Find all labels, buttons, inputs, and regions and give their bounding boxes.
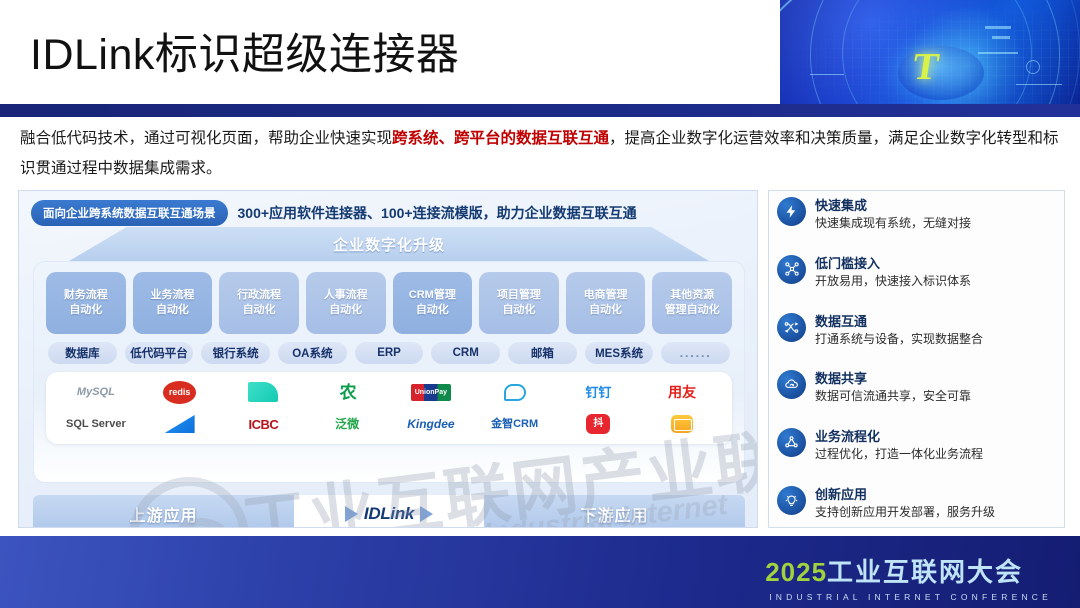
sqlserver-logo: SQL Server [66, 419, 126, 430]
icbc-logo: ICBC [248, 418, 278, 431]
process-box-line1: 电商管理 [584, 288, 628, 303]
feature-desc: 过程优化，打造一体化业务流程 [815, 446, 983, 463]
process-box: CRM管理自动化 [393, 272, 473, 334]
diagram-stack: 企业数字化升级 财务流程自动化 业务流程自动化 行政流程自动化 人事流程自动化 … [27, 227, 751, 483]
digital-upgrade-banner-label: 企业数字化升级 [333, 234, 445, 255]
data-source-chip-more: ...... [661, 342, 730, 364]
process-box-line1: 财务流程 [64, 288, 108, 303]
redis-logo: redis [163, 381, 197, 404]
feature-text: 快速集成 快速集成现有系统，无缝对接 [815, 197, 971, 232]
tech-blip [985, 26, 1011, 29]
upstream-application-block: 上游应用 [33, 495, 294, 528]
feature-text: 数据共享 数据可信流通共享，安全可靠 [815, 370, 971, 405]
process-box-line1: CRM管理 [409, 288, 456, 303]
feature-title: 业务流程化 [815, 429, 983, 445]
process-box: 行政流程自动化 [219, 272, 299, 334]
process-box: 其他资源管理自动化 [652, 272, 732, 334]
weaver-logo: 泛微 [335, 418, 359, 430]
douyin-logo: 抖 [586, 414, 610, 434]
conference-name-en: INDUSTRIAL INTERNET CONFERENCE [769, 592, 1052, 602]
network-nodes-icon [777, 255, 806, 284]
lightbulb-icon [777, 486, 806, 515]
tech-blip [978, 52, 1018, 54]
chat-bubble-logo [504, 384, 526, 401]
process-box-line2: 自动化 [589, 303, 622, 318]
data-source-chip: 邮箱 [508, 342, 577, 364]
feature-list-panel: 快速集成 快速集成现有系统，无缝对接 低门槛接入 开放易用，快速接入标识体系 [768, 190, 1065, 528]
process-box-line2: 管理自动化 [665, 303, 720, 318]
feature-desc: 打通系统与设备，实现数据整合 [815, 331, 983, 348]
digital-upgrade-banner: 企业数字化升级 [69, 227, 709, 261]
feature-desc: 支持创新应用开发部署，服务升级 [815, 504, 995, 521]
feature-text: 创新应用 支持创新应用开发部署，服务升级 [815, 486, 995, 521]
lightning-icon [777, 197, 806, 226]
idlink-connector-block: IDLink [294, 495, 484, 528]
tech-decoration-graphic: T [780, 0, 1080, 112]
tech-blip [1016, 84, 1062, 85]
process-box-line1: 项目管理 [497, 288, 541, 303]
mysql-logo: MySQL [77, 387, 115, 398]
slide-root: T IDLink标识超级连接器 融合低代码技术，通过可视化页面，帮助企业快速实现… [0, 0, 1080, 608]
process-box: 业务流程自动化 [133, 272, 213, 334]
data-source-chip: 低代码平台 [125, 342, 194, 364]
idlink-logo: IDLink [364, 504, 414, 524]
tech-blip [1026, 60, 1040, 74]
data-source-chip: ERP [355, 342, 424, 364]
process-box: 财务流程自动化 [46, 272, 126, 334]
process-box: 项目管理自动化 [479, 272, 559, 334]
process-box: 电商管理自动化 [566, 272, 646, 334]
process-box-line2: 自动化 [416, 303, 449, 318]
feature-title: 数据互通 [815, 314, 983, 330]
diagram-header: 面向企业跨系统数据互联互通场景 300+应用软件连接器、100+连接流模版，助力… [31, 200, 749, 226]
conference-year: 2025 [765, 557, 827, 588]
diagram-mid-card: 财务流程自动化 业务流程自动化 行政流程自动化 人事流程自动化 CRM管理自动化… [33, 261, 745, 483]
feature-desc: 快速集成现有系统，无缝对接 [815, 215, 971, 232]
feature-item-process-oriented: 业务流程化 过程优化，打造一体化业务流程 [777, 428, 1054, 463]
unionpay-logo: UnionPay [411, 384, 451, 401]
feature-desc: 开放易用，快速接入标识体系 [815, 273, 971, 290]
page-title: IDLink标识超级连接器 [30, 20, 459, 82]
feature-text: 业务流程化 过程优化，打造一体化业务流程 [815, 428, 983, 463]
feature-title: 快速集成 [815, 198, 971, 214]
feature-text: 数据互通 打通系统与设备，实现数据整合 [815, 313, 983, 348]
conference-logo: 2025 工业互联网大会 INDUSTRIAL INTERNET CONFERE… [765, 552, 1052, 602]
vendor-logo-card: MySQL redis 农 UnionPay 钉钉 用友 SQL Server … [46, 372, 732, 444]
lead-paragraph: 融合低代码技术，通过可视化页面，帮助企业快速实现跨系统、跨平台的数据互联互通，提… [20, 124, 1065, 184]
tech-blip [810, 74, 844, 75]
feature-title: 创新应用 [815, 487, 995, 503]
feature-title: 低门槛接入 [815, 256, 971, 272]
feature-title: 数据共享 [815, 371, 971, 387]
yonyou-logo: 用友 [668, 385, 696, 399]
data-source-chip: MES系统 [585, 342, 654, 364]
process-box-line1: 其他资源 [670, 288, 714, 303]
feature-item-fast-integration: 快速集成 快速集成现有系统，无缝对接 [777, 197, 1054, 232]
lead-highlight: 跨系统、跨平台的数据互联互通 [392, 130, 609, 147]
process-box-line2: 自动化 [69, 303, 102, 318]
process-flow-icon [777, 428, 806, 457]
abc-bank-logo: 农 [340, 384, 355, 401]
mail-logo [671, 415, 693, 433]
kingdee-logo: Kingdee [407, 418, 454, 430]
tech-blip [992, 36, 1010, 39]
process-box-row: 财务流程自动化 业务流程自动化 行政流程自动化 人事流程自动化 CRM管理自动化… [46, 272, 732, 334]
process-box-line2: 自动化 [156, 303, 189, 318]
tech-lens-glow [898, 46, 984, 100]
arrow-right-icon [345, 506, 358, 522]
process-box: 人事流程自动化 [306, 272, 386, 334]
blue-shape-logo [165, 415, 195, 433]
data-source-chip: OA系统 [278, 342, 347, 364]
process-box-line1: 行政流程 [237, 288, 281, 303]
data-source-row: 数据库 低代码平台 银行系统 OA系统 ERP CRM 邮箱 MES系统 ...… [48, 342, 730, 364]
feature-desc: 数据可信流通共享，安全可靠 [815, 388, 971, 405]
data-source-chip: 银行系统 [201, 342, 270, 364]
feature-item-data-interop: 数据互通 打通系统与设备，实现数据整合 [777, 313, 1054, 348]
data-exchange-icon [777, 313, 806, 342]
title-underline-bar [0, 104, 1080, 117]
vendor-logo-grid: MySQL redis 农 UnionPay 钉钉 用友 SQL Server … [54, 376, 724, 440]
feature-text: 低门槛接入 开放易用，快速接入标识体系 [815, 255, 971, 290]
scene-pill-badge: 面向企业跨系统数据互联互通场景 [31, 200, 228, 226]
lead-text-part1: 融合低代码技术，通过可视化页面，帮助企业快速实现 [20, 130, 392, 147]
dingtalk-logo: 钉钉 [585, 386, 611, 399]
flow-band: 上游应用 IDLink 下游应用 [33, 495, 745, 528]
downstream-application-block: 下游应用 [484, 495, 745, 528]
process-box-line2: 自动化 [243, 303, 276, 318]
jinzhi-crm-logo: 金智CRM [491, 419, 538, 430]
process-box-line2: 自动化 [329, 303, 362, 318]
architecture-diagram-panel: 面向企业跨系统数据互联互通场景 300+应用软件连接器、100+连接流模版，助力… [18, 190, 758, 528]
process-box-line2: 自动化 [502, 303, 535, 318]
cloud-share-icon [777, 370, 806, 399]
conference-logo-main: 2025 工业互联网大会 [765, 552, 1023, 589]
arrow-right-icon [420, 506, 433, 522]
process-box-line1: 业务流程 [150, 288, 194, 303]
teal-shape-logo [248, 382, 278, 402]
diagram-headline: 300+应用软件连接器、100+连接流模版，助力企业数据互联互通 [238, 203, 637, 223]
data-source-chip: 数据库 [48, 342, 117, 364]
process-box-line1: 人事流程 [324, 288, 368, 303]
feature-item-innovative-app: 创新应用 支持创新应用开发部署，服务升级 [777, 486, 1054, 521]
conference-name-cn: 工业互联网大会 [827, 552, 1023, 589]
footer-bar: 2025 工业互联网大会 INDUSTRIAL INTERNET CONFERE… [0, 536, 1080, 608]
feature-item-low-barrier-access: 低门槛接入 开放易用，快速接入标识体系 [777, 255, 1054, 290]
feature-item-data-sharing: 数据共享 数据可信流通共享，安全可靠 [777, 370, 1054, 405]
data-source-chip: CRM [431, 342, 500, 364]
